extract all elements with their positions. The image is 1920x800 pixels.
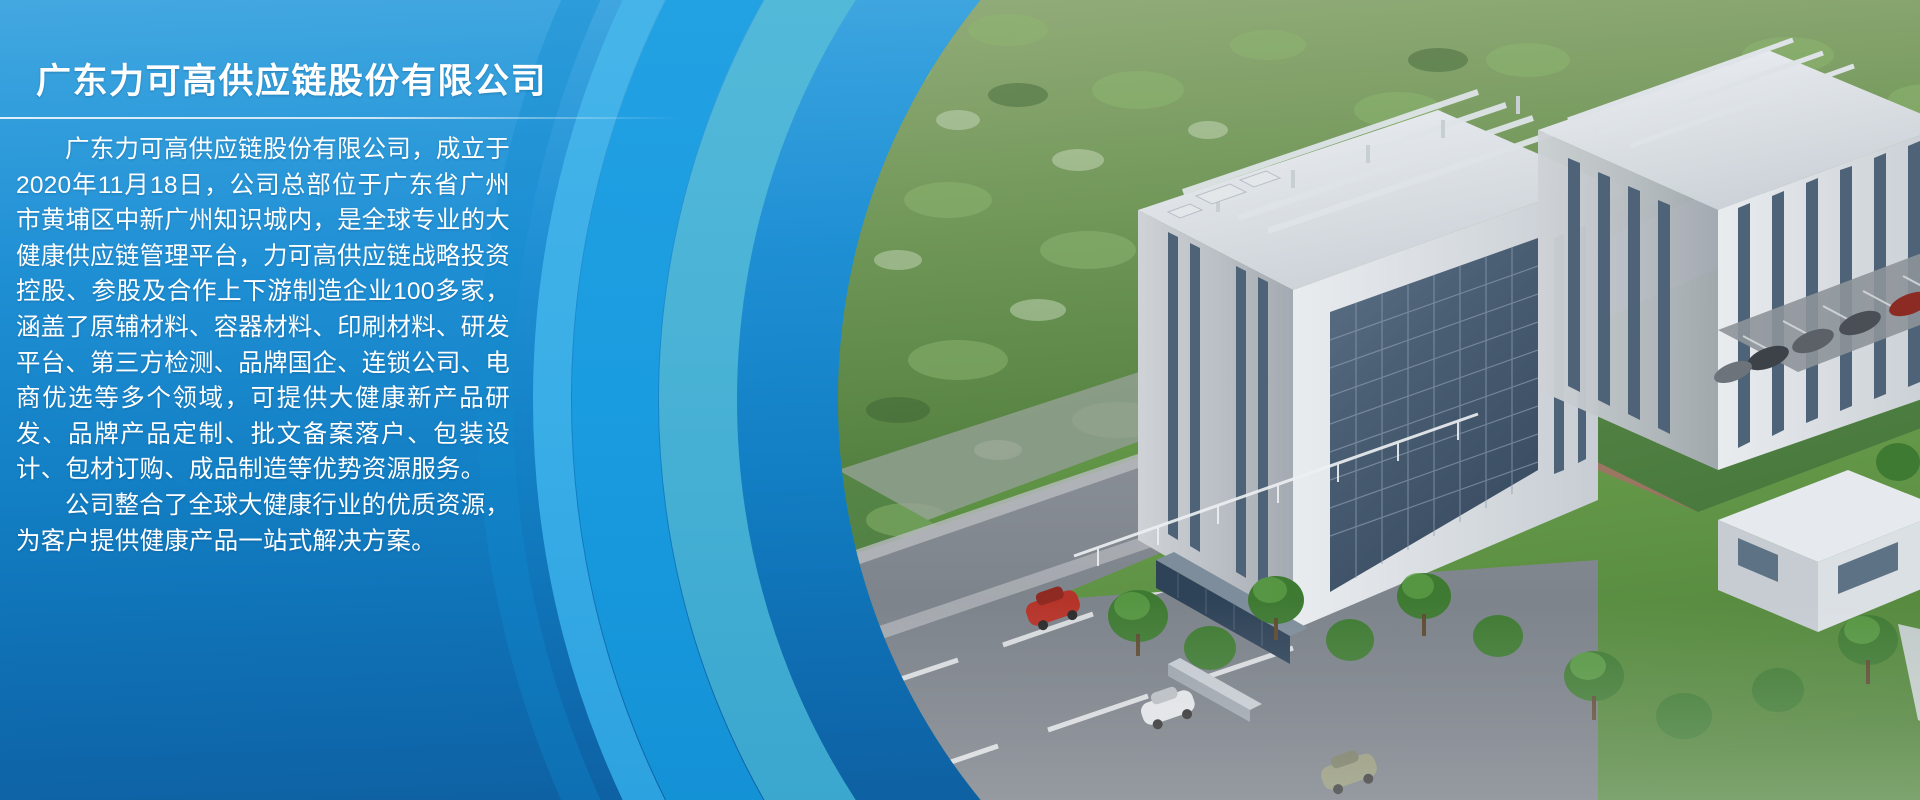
page-title: 广东力可高供应链股份有限公司 xyxy=(36,53,547,104)
company-description: 广东力可高供应链股份有限公司，成立于2020年11月18日，公司总部位于广东省广… xyxy=(16,132,510,559)
bottom-haze xyxy=(838,600,1920,800)
banner-root: 广东力可高供应链股份有限公司 广东力可高供应链股份有限公司，成立于2020年11… xyxy=(0,0,1920,800)
text-column: 广东力可高供应链股份有限公司 广东力可高供应链股份有限公司，成立于2020年11… xyxy=(0,0,560,800)
aerial-building-illustration xyxy=(838,0,1920,800)
description-paragraph-2: 公司整合了全球大健康行业的优质资源，为客户提供健康产品一站式解决方案。 xyxy=(16,488,510,559)
building-photo-disc xyxy=(838,0,1920,800)
title-divider xyxy=(0,117,680,119)
description-paragraph-1: 广东力可高供应链股份有限公司，成立于2020年11月18日，公司总部位于广东省广… xyxy=(16,132,510,488)
